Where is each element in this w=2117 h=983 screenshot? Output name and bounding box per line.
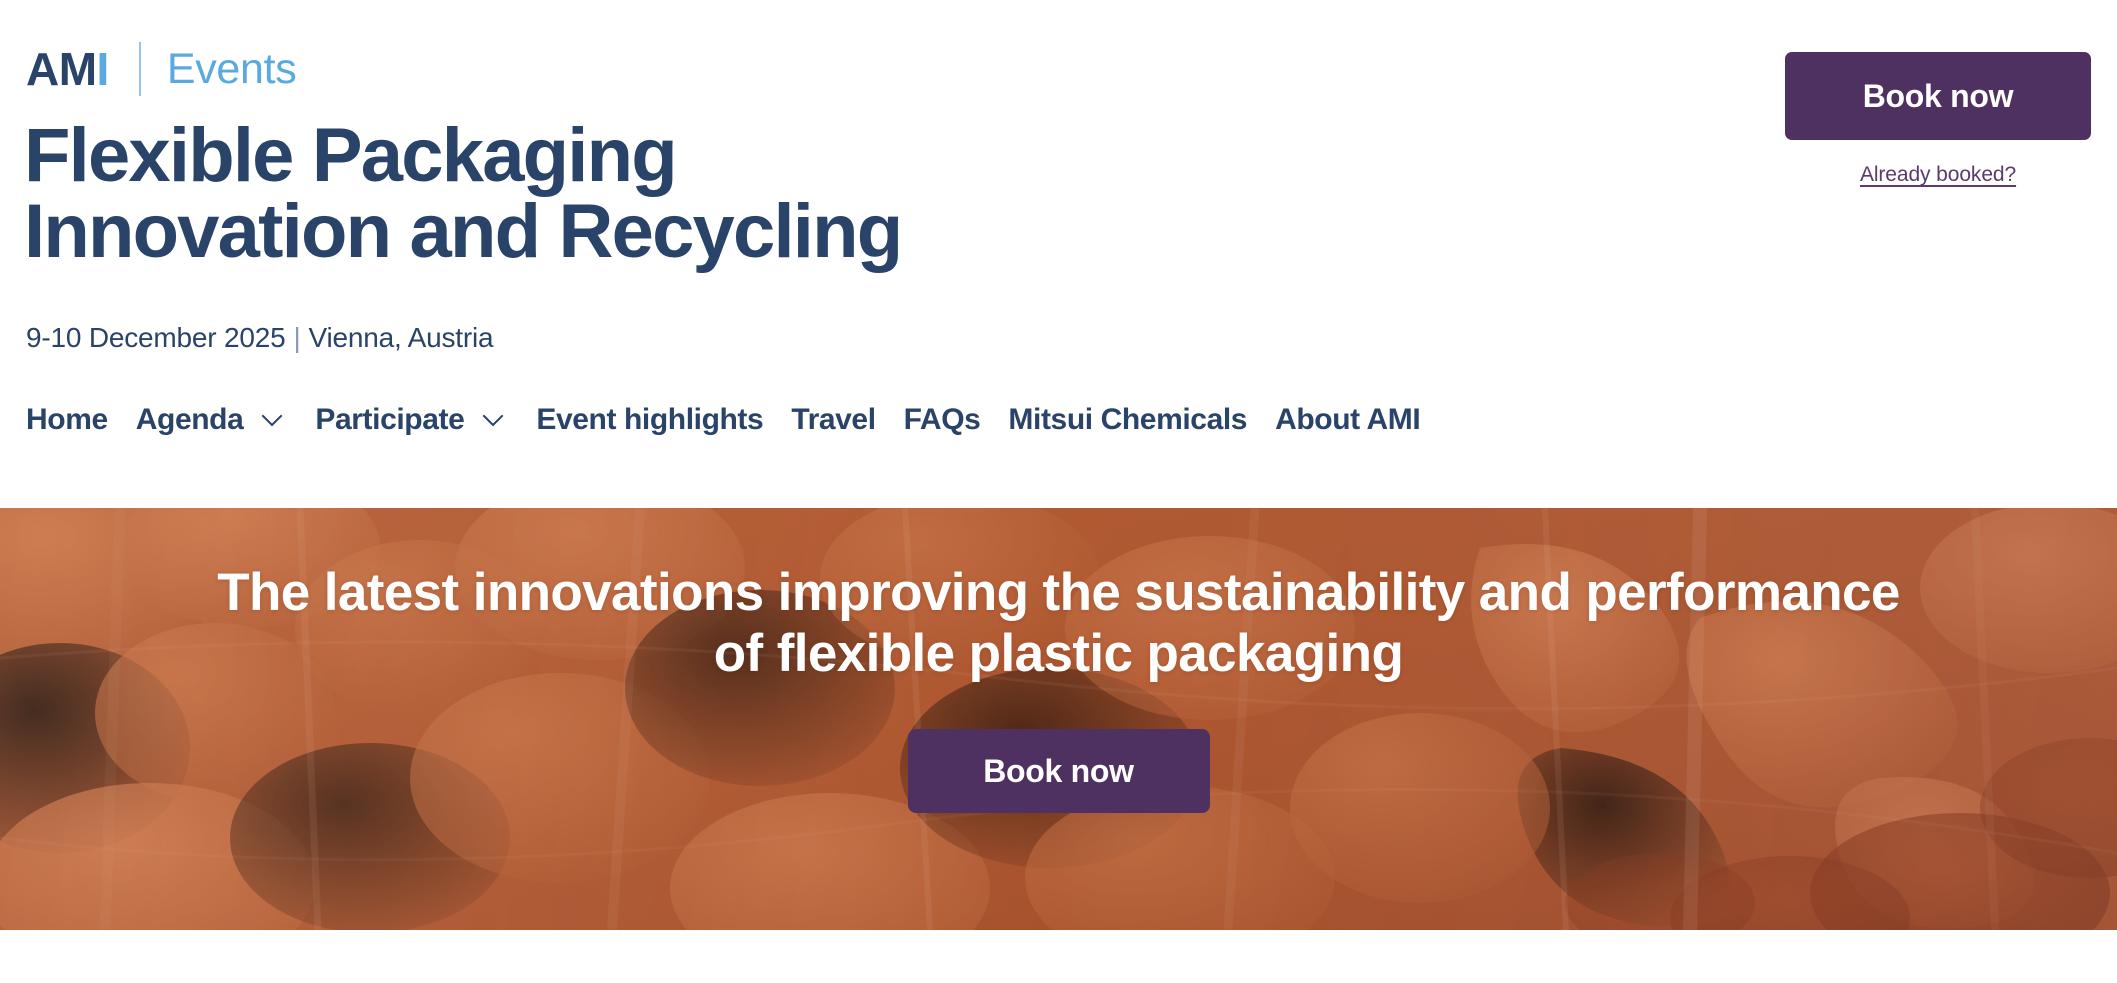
page-root: AMI Events Flexible Packaging Innovation… — [0, 0, 2117, 983]
nav-item-about-ami[interactable]: About AMI — [1261, 405, 1434, 435]
nav-item-agenda[interactable]: Agenda — [122, 405, 302, 435]
nav-item-label: Event highlights — [536, 405, 763, 435]
hero-headline-line-1: The latest innovations improving the sus… — [29, 562, 2089, 623]
main-navigation: Home Agenda Participate Event highlights… — [26, 396, 1434, 444]
event-meta: 9-10 December 2025|Vienna, Austria — [26, 322, 493, 354]
chevron-down-icon[interactable] — [257, 405, 287, 435]
event-location: Vienna, Austria — [309, 322, 494, 353]
nav-item-label: Travel — [791, 405, 875, 435]
hero-banner: The latest innovations improving the sus… — [0, 508, 2117, 930]
logo-divider — [139, 42, 141, 96]
nav-item-travel[interactable]: Travel — [777, 405, 889, 435]
nav-item-mitsui-chemicals[interactable]: Mitsui Chemicals — [994, 405, 1261, 435]
nav-item-faqs[interactable]: FAQs — [890, 405, 995, 435]
site-header: AMI Events Flexible Packaging Innovation… — [0, 0, 2117, 508]
hero-headline-line-2: of flexible plastic packaging — [29, 623, 2089, 684]
already-booked-link[interactable]: Already booked? — [1860, 163, 2016, 187]
nav-item-label: Participate — [315, 405, 464, 435]
ami-wordmark-dark: AM — [26, 43, 97, 95]
hero-content: The latest innovations improving the sus… — [0, 508, 2117, 930]
nav-item-home[interactable]: Home — [26, 405, 122, 435]
nav-item-label: Agenda — [136, 405, 244, 435]
ami-wordmark-light: I — [97, 43, 109, 95]
page-title-line-1: Flexible Packaging — [24, 118, 901, 194]
nav-item-participate[interactable]: Participate — [301, 405, 522, 435]
event-meta-separator: | — [293, 322, 300, 354]
ami-wordmark: AMI — [26, 46, 109, 92]
page-title: Flexible Packaging Innovation and Recycl… — [24, 118, 901, 270]
nav-item-label: About AMI — [1275, 405, 1420, 435]
book-now-button-header[interactable]: Book now — [1785, 52, 2091, 140]
book-now-button-hero[interactable]: Book now — [908, 729, 1210, 813]
page-body-spacer — [0, 930, 2117, 983]
page-title-line-2: Innovation and Recycling — [24, 194, 901, 270]
nav-item-label: FAQs — [904, 405, 981, 435]
nav-item-event-highlights[interactable]: Event highlights — [522, 405, 777, 435]
brand-logo[interactable]: AMI Events — [26, 42, 297, 96]
chevron-down-icon[interactable] — [478, 405, 508, 435]
nav-item-label: Home — [26, 405, 108, 435]
hero-headline: The latest innovations improving the sus… — [29, 562, 2089, 685]
header-cta-group: Book now Already booked? — [1785, 52, 2091, 187]
nav-item-label: Mitsui Chemicals — [1008, 405, 1247, 435]
event-date: 9-10 December 2025 — [26, 322, 285, 353]
events-wordmark: Events — [167, 48, 297, 91]
